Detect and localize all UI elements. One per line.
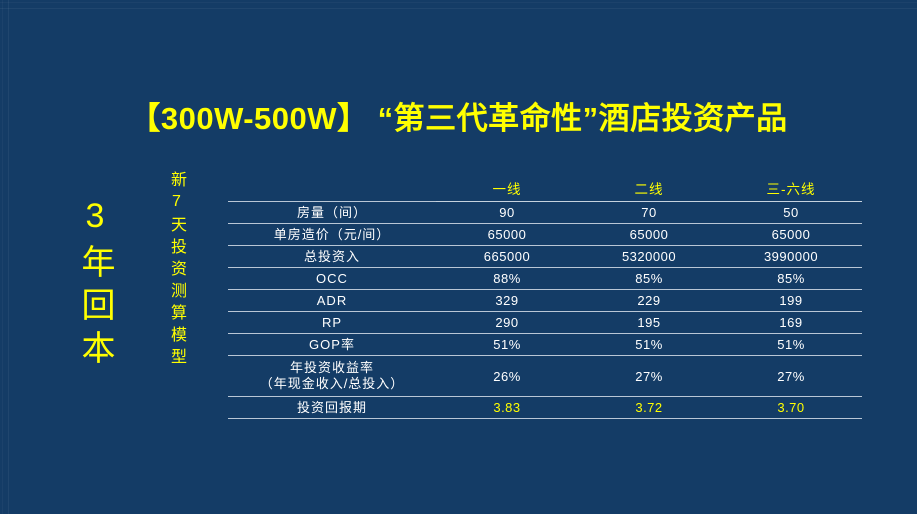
vertical-headline-payback: 3年回本 [76,197,114,373]
row-label: RP [228,312,436,334]
frame-line-horizontal-outer [0,2,917,3]
row-value: 290 [436,312,578,334]
row-label: 房量（间） [228,202,436,224]
row-value: 229 [578,290,720,312]
table-header-row: 一线 二线 三-六线 [228,176,862,202]
table-row: 房量（间）907050 [228,202,862,224]
vertical-subheadline-model: 新7天投资测算模型 [166,171,186,370]
slide-canvas: 【300W-500W】 “第三代革命性”酒店投资产品 3年回本 新7天投资测算模… [0,0,917,514]
investment-table-container: 一线 二线 三-六线 房量（间）907050单房造价（元/间）650006500… [228,176,862,419]
row-value: 51% [436,334,578,356]
row-label: 年投资收益率（年现金收入/总投入） [228,356,436,397]
row-value: 65000 [720,224,862,246]
row-value: 5320000 [578,246,720,268]
table-header: 一线 二线 三-六线 [228,176,862,202]
row-value: 199 [720,290,862,312]
row-label: 投资回报期 [228,397,436,419]
row-value: 195 [578,312,720,334]
row-label: ADR [228,290,436,312]
frame-line-horizontal-inner [0,8,917,9]
row-value: 85% [720,268,862,290]
table-header-col-3: 三-六线 [720,176,862,202]
row-value: 70 [578,202,720,224]
row-value: 665000 [436,246,578,268]
row-value: 90 [436,202,578,224]
row-value: 3.83 [436,397,578,419]
row-value: 65000 [436,224,578,246]
table-row: ADR329229199 [228,290,862,312]
row-label: OCC [228,268,436,290]
row-value: 3.72 [578,397,720,419]
row-label: 总投资入 [228,246,436,268]
table-row: 年投资收益率（年现金收入/总投入）26%27%27% [228,356,862,397]
table-row: RP290195169 [228,312,862,334]
row-value: 26% [436,356,578,397]
row-value: 27% [578,356,720,397]
table-row: GOP率51%51%51% [228,334,862,356]
row-value: 50 [720,202,862,224]
row-label-line-2: （年现金收入/总投入） [228,376,436,392]
frame-line-vertical-inner [8,0,9,514]
row-value: 329 [436,290,578,312]
table-row: 单房造价（元/间）650006500065000 [228,224,862,246]
table-row: 投资回报期3.833.723.70 [228,397,862,419]
row-label: GOP率 [228,334,436,356]
row-value: 65000 [578,224,720,246]
row-label-line-1: 年投资收益率 [228,360,436,376]
row-value: 51% [578,334,720,356]
frame-line-vertical-outer [2,0,3,514]
row-value: 27% [720,356,862,397]
investment-table: 一线 二线 三-六线 房量（间）907050单房造价（元/间）650006500… [228,176,862,419]
row-value: 169 [720,312,862,334]
row-value: 85% [578,268,720,290]
table-header-col-2: 二线 [578,176,720,202]
table-header-corner [228,176,436,202]
table-row: 总投资入66500053200003990000 [228,246,862,268]
row-value: 3990000 [720,246,862,268]
row-label: 单房造价（元/间） [228,224,436,246]
row-value: 88% [436,268,578,290]
row-value: 51% [720,334,862,356]
table-body: 房量（间）907050单房造价（元/间）650006500065000总投资入6… [228,202,862,419]
table-row: OCC88%85%85% [228,268,862,290]
row-value: 3.70 [720,397,862,419]
table-header-col-1: 一线 [436,176,578,202]
slide-title: 【300W-500W】 “第三代革命性”酒店投资产品 [0,99,917,139]
